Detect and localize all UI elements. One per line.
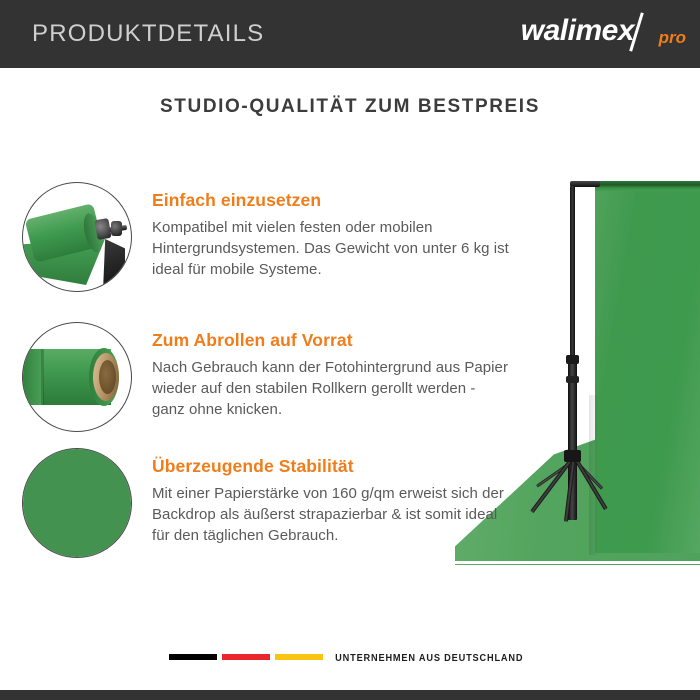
- product-details-infographic: PRODUKTDETAILS walimex pro STUDIO-QUALIT…: [0, 0, 700, 700]
- feature-thumbnail-color-swatch: [22, 448, 132, 558]
- feature-body: Mit einer Papierstärke von 160 g/qm erwe…: [152, 483, 512, 546]
- flag-bar-gold: [275, 654, 323, 660]
- feature-text: Einfach einzusetzen Kompatibel mit viele…: [152, 190, 512, 280]
- backdrop-paper-panel: [595, 183, 700, 553]
- stand-clamp-upper: [566, 355, 579, 364]
- page-title: PRODUKTDETAILS: [32, 20, 264, 48]
- badge-label: UNTERNEHMEN AUS DEUTSCHLAND: [335, 653, 523, 664]
- footer-bar: [0, 690, 700, 700]
- feature-body: Kompatibel mit vielen festen oder mobile…: [152, 217, 512, 280]
- feature-heading: Einfach einzusetzen: [152, 190, 512, 211]
- stand-clamp-lower: [566, 376, 579, 383]
- green-swatch-fill: [23, 449, 131, 557]
- feature-text: Zum Abrollen auf Vorrat Nach Gebrauch ka…: [152, 330, 512, 420]
- roll-left-face: [22, 349, 43, 405]
- header-bar: PRODUKTDETAILS walimex pro: [0, 0, 700, 68]
- backdrop-floor-edge: [455, 561, 700, 564]
- backdrop-top-roll: [595, 181, 700, 191]
- flag-bar-red: [222, 654, 270, 660]
- feature-heading: Zum Abrollen auf Vorrat: [152, 330, 512, 351]
- subtitle-headline: STUDIO-QUALITÄT ZUM BESTPREIS: [0, 96, 700, 118]
- feature-text: Überzeugende Stabilität Mit einer Papier…: [152, 456, 512, 546]
- logo-wordmark: walimex: [521, 14, 634, 48]
- core-hole: [99, 360, 116, 394]
- german-flag-bars: [169, 648, 323, 666]
- feature-thumbnail-roll-mount: [22, 182, 132, 292]
- mount-knob-secondary: [111, 221, 122, 236]
- feature-heading: Überzeugende Stabilität: [152, 456, 512, 477]
- walimex-pro-logo: walimex pro: [488, 14, 688, 54]
- made-in-germany-badge: UNTERNEHMEN AUS DEUTSCHLAND: [0, 648, 700, 670]
- stand-leg-hub: [564, 450, 581, 462]
- feature-thumbnail-roll-core: [22, 322, 132, 432]
- roll-edge-shade: [41, 349, 44, 405]
- feature-body: Nach Gebrauch kann der Fotohintergrund a…: [152, 357, 512, 420]
- mount-bracket: [103, 239, 125, 291]
- flag-bar-black: [169, 654, 217, 660]
- logo-pro-suffix: pro: [659, 28, 686, 48]
- mount-knob: [94, 218, 111, 240]
